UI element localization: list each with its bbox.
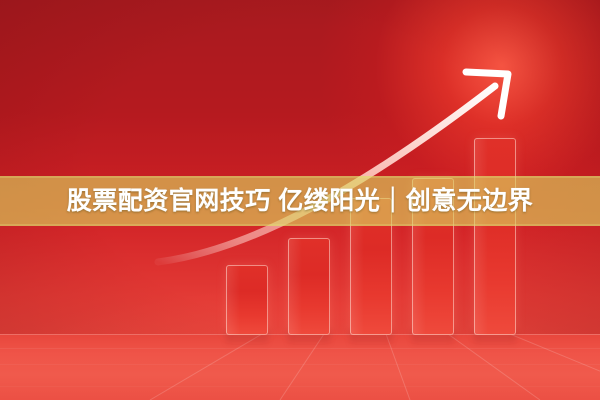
bar-2 [288,238,330,335]
bar-5 [474,138,516,335]
bar-1 [226,265,268,335]
banner-canvas: 股票配资官网技巧 亿缕阳光｜创意无边界 [0,0,600,400]
banner-headline: 股票配资官网技巧 亿缕阳光｜创意无边界 [67,189,533,214]
band-top-edge [0,176,600,178]
headline-band: 股票配资官网技巧 亿缕阳光｜创意无边界 [0,176,600,226]
band-bottom-edge [0,224,600,226]
